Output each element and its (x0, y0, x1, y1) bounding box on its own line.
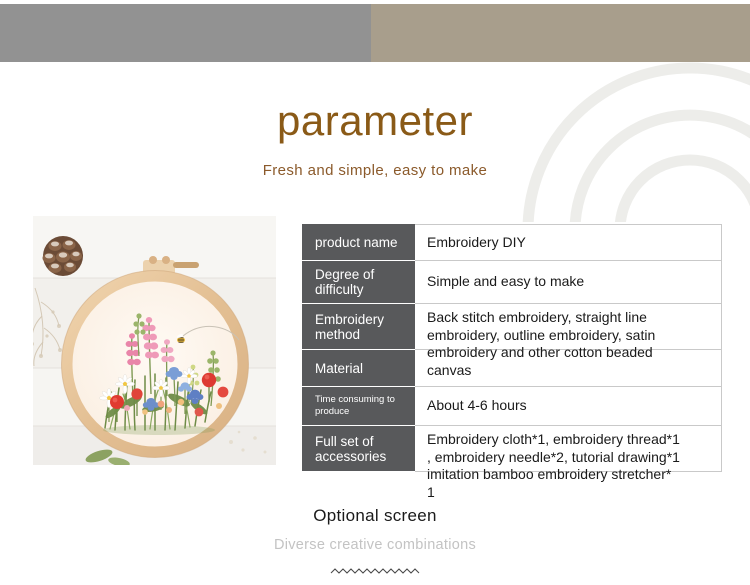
optional-screen-subtitle: Diverse creative combinations (0, 536, 750, 555)
table-row: Time consuming to produce About 4-6 hour… (303, 387, 722, 426)
spec-value-accessories: Embroidery cloth*1, embroidery thread*1 … (415, 426, 722, 472)
product-photo (33, 216, 276, 465)
page-title: parameter (0, 95, 750, 147)
spec-value-product-name: Embroidery DIY (415, 225, 722, 261)
spec-label-material: Material (303, 350, 415, 387)
spec-label-embroidery-method: Embroidery method (303, 304, 415, 350)
page-subtitle: Fresh and simple, easy to make (0, 161, 750, 181)
spec-label-time-consuming: Time consuming to produce (303, 387, 415, 426)
zigzag-divider-icon (0, 566, 750, 576)
table-row: product name Embroidery DIY (303, 225, 722, 261)
spec-value-embroidery-method: Back stitch embroidery, straight line em… (415, 304, 722, 350)
optional-screen-title: Optional screen (0, 505, 750, 527)
spec-label-product-name: product name (303, 225, 415, 261)
specification-table: product name Embroidery DIY Degree of di… (302, 224, 722, 472)
spec-value-embroidery-method-text: Back stitch embroidery, straight line em… (415, 304, 723, 379)
table-row: Full set of accessories Embroidery cloth… (303, 426, 722, 472)
spec-value-difficulty: Simple and easy to make (415, 261, 722, 304)
top-color-bands (0, 4, 750, 62)
spec-value-time-consuming: About 4-6 hours (415, 387, 722, 426)
band-left-gray (0, 4, 371, 62)
spec-value-accessories-text: Embroidery cloth*1, embroidery thread*1 … (415, 426, 723, 501)
band-right-tan (371, 4, 750, 62)
optional-screen-block: Optional screen Diverse creative combina… (0, 505, 750, 576)
spec-label-accessories: Full set of accessories (303, 426, 415, 472)
heading-block: parameter Fresh and simple, easy to make (0, 95, 750, 181)
spec-label-difficulty: Degree of difficulty (303, 261, 415, 304)
table-row: Degree of difficulty Simple and easy to … (303, 261, 722, 304)
table-row: Embroidery method Back stitch embroidery… (303, 304, 722, 350)
